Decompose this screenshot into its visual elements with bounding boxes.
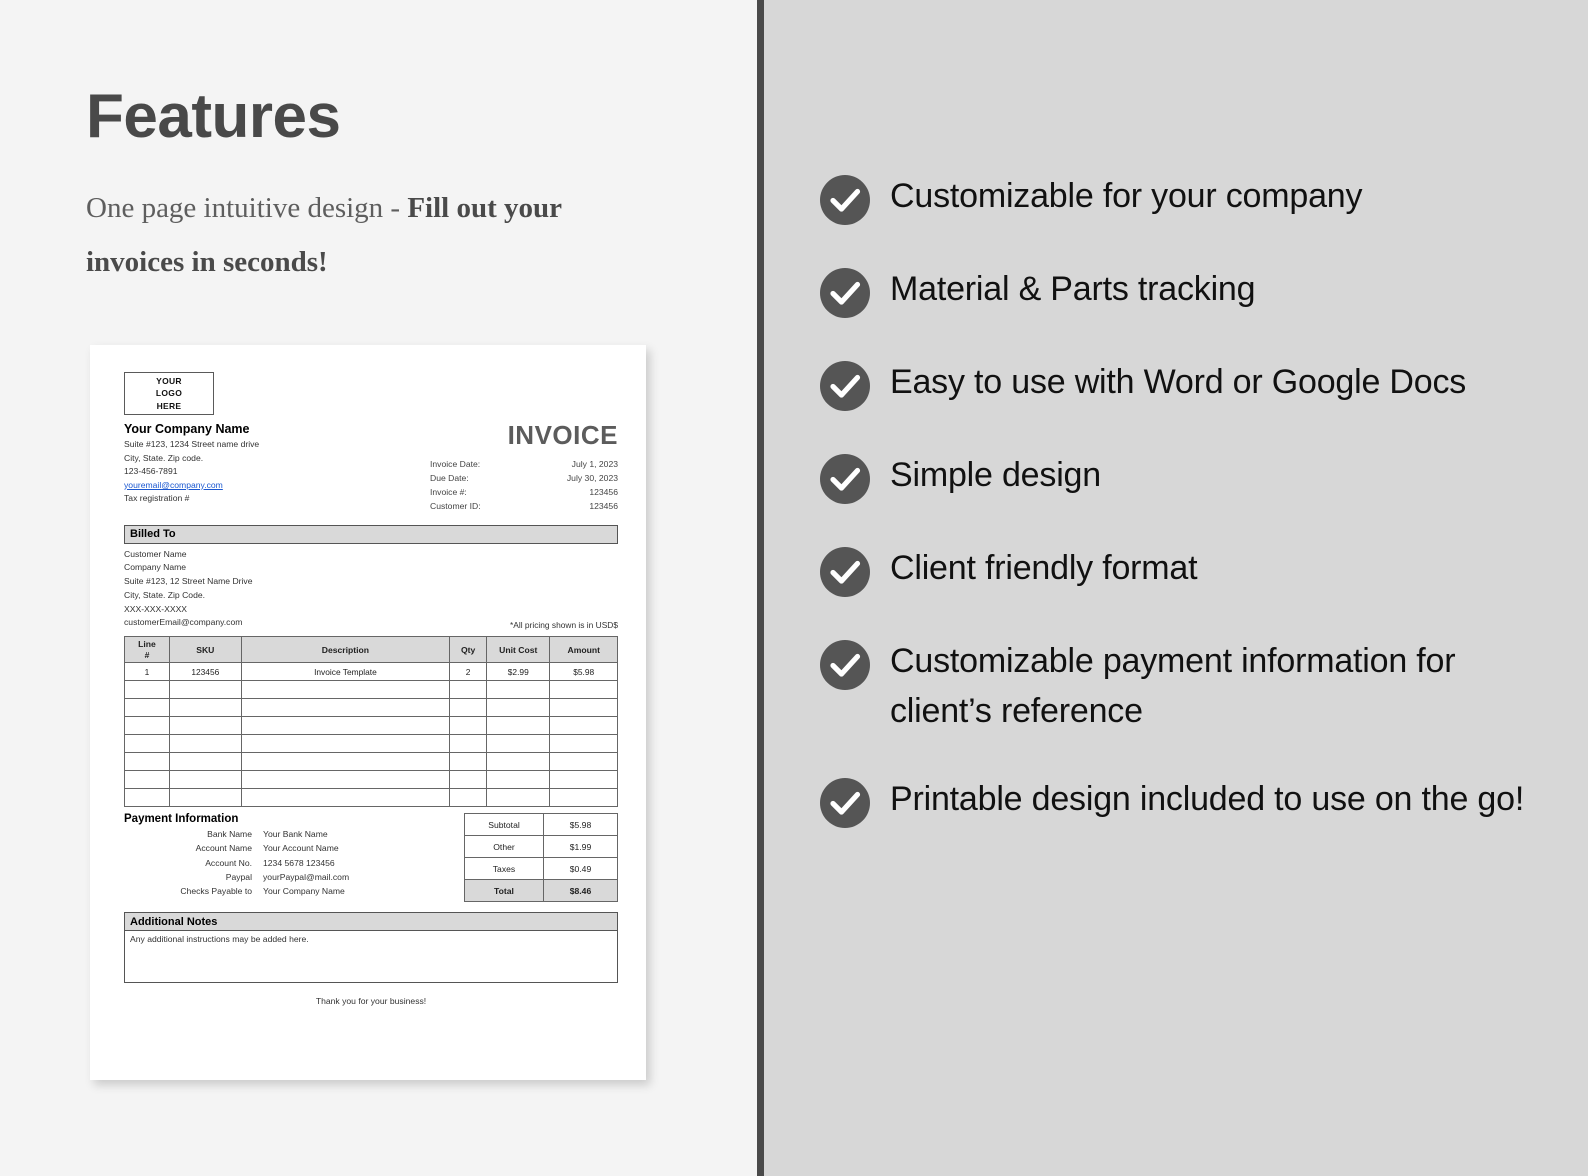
company-address-line-1: Suite #123, 1234 Street name drive (124, 438, 424, 452)
billto-line: Suite #123, 12 Street Name Drive (124, 575, 618, 589)
payment-value: yourPaypal@mail.com (263, 870, 424, 884)
billed-to-header: Billed To (124, 525, 618, 544)
payment-key: Paypal (124, 870, 263, 884)
line-items-table: Line# SKU Description Qty Unit Cost Amou… (124, 636, 618, 807)
check-circle-icon (819, 777, 871, 829)
table-row[interactable] (125, 735, 618, 753)
feature-item-word-google-docs: Easy to use with Word or Google Docs (819, 358, 1548, 412)
invoice-content: YOUR LOGO HERE Your Company Name Suite #… (124, 372, 618, 1006)
table-row[interactable]: 1 123456 Invoice Template 2 $2.99 $5.98 (125, 663, 618, 681)
totals-value: $0.49 (544, 858, 618, 880)
cell-description (241, 753, 450, 771)
feature-item-printable-design: Printable design included to use on the … (819, 775, 1548, 829)
payment-value: 1234 5678 123456 (263, 856, 424, 870)
col-hash-sign: # (145, 650, 150, 660)
feature-item-simple-design: Simple design (819, 451, 1548, 505)
totals-row-taxes: Taxes $0.49 (465, 858, 618, 880)
check-circle-icon (819, 360, 871, 412)
logo-placeholder: YOUR LOGO HERE (124, 372, 214, 415)
payment-row-checks-payable: Checks Payable to Your Company Name (124, 884, 424, 898)
invoice-document-preview[interactable]: YOUR LOGO HERE Your Company Name Suite #… (90, 345, 646, 1080)
billed-to-block: Customer Name Company Name Suite #123, 1… (124, 548, 618, 631)
col-header-sku: SKU (170, 637, 242, 663)
company-info-block: Your Company Name Suite #123, 1234 Stree… (124, 422, 424, 514)
cell-amount (550, 699, 618, 717)
left-panel: Features One page intuitive design - Fil… (0, 0, 757, 1176)
totals-label: Total (465, 880, 544, 902)
cell-line (125, 717, 170, 735)
cell-description (241, 789, 450, 807)
additional-notes-body[interactable]: Any additional instructions may be added… (124, 931, 618, 983)
cell-amount (550, 753, 618, 771)
slide-root: Features One page intuitive design - Fil… (0, 0, 1588, 1176)
payment-key: Checks Payable to (124, 884, 263, 898)
col-header-amount: Amount (550, 637, 618, 663)
cell-unit-cost (487, 789, 550, 807)
invoice-heading: INVOICE (430, 422, 618, 448)
feature-item-client-friendly-format: Client friendly format (819, 544, 1548, 598)
cell-description (241, 681, 450, 699)
cell-unit-cost (487, 717, 550, 735)
billto-line: XXX-XXX-XXXX (124, 603, 618, 617)
totals-value: $5.98 (544, 814, 618, 836)
table-row[interactable] (125, 681, 618, 699)
cell-qty (450, 717, 487, 735)
pricing-currency-note: *All pricing shown is in USD$ (510, 620, 618, 630)
payment-value: Your Company Name (263, 884, 424, 898)
payment-value: Your Account Name (263, 841, 424, 855)
cell-unit-cost (487, 681, 550, 699)
meta-value: 123456 (589, 486, 618, 500)
col-header-unit-cost: Unit Cost (487, 637, 550, 663)
table-row[interactable] (125, 789, 618, 807)
cell-description (241, 699, 450, 717)
meta-row-due-date: Due Date: July 30, 2023 (430, 472, 618, 486)
company-address-line-2: City, State. Zip code. (124, 452, 424, 466)
totals-value: $1.99 (544, 836, 618, 858)
meta-value: 123456 (589, 500, 618, 514)
cell-amount (550, 735, 618, 753)
cell-description (241, 717, 450, 735)
cell-amount: $5.98 (550, 663, 618, 681)
cell-sku (170, 699, 242, 717)
page-subtitle: One page intuitive design - Fill out you… (86, 182, 666, 289)
panel-divider (757, 0, 764, 1176)
cell-description (241, 735, 450, 753)
meta-value: July 30, 2023 (567, 472, 618, 486)
col-header-description: Description (241, 637, 450, 663)
cell-amount (550, 681, 618, 699)
table-row[interactable] (125, 753, 618, 771)
cell-sku (170, 717, 242, 735)
totals-label: Other (465, 836, 544, 858)
cell-amount (550, 789, 618, 807)
meta-row-invoice-date: Invoice Date: July 1, 2023 (430, 458, 618, 472)
billto-line: City, State. Zip Code. (124, 589, 618, 603)
table-header-row: Line# SKU Description Qty Unit Cost Amou… (125, 637, 618, 663)
col-line-word: Line (138, 639, 156, 649)
totals-table: Subtotal $5.98 Other $1.99 Taxes $0.49 (464, 813, 618, 902)
meta-key: Due Date: (430, 472, 469, 486)
table-row[interactable] (125, 717, 618, 735)
payment-key: Account No. (124, 856, 263, 870)
check-circle-icon (819, 267, 871, 319)
thank-you-message: Thank you for your business! (124, 996, 618, 1006)
cell-line (125, 753, 170, 771)
meta-key: Invoice Date: (430, 458, 480, 472)
cell-sku (170, 681, 242, 699)
payment-and-totals-area: Payment Information Bank Name Your Bank … (124, 813, 618, 902)
billto-line: Customer Name (124, 548, 618, 562)
cell-line (125, 699, 170, 717)
feature-label: Easy to use with Word or Google Docs (890, 358, 1466, 408)
page-title: Features (86, 84, 340, 149)
cell-unit-cost (487, 771, 550, 789)
right-panel: Customizable for your company Material &… (764, 0, 1588, 1176)
feature-label: Client friendly format (890, 544, 1197, 594)
cell-unit-cost (487, 753, 550, 771)
payment-key: Account Name (124, 841, 263, 855)
cell-sku (170, 735, 242, 753)
company-email-link[interactable]: youremail@company.com (124, 479, 424, 493)
subtitle-normal-text: One page intuitive design - (86, 192, 407, 224)
table-row[interactable] (125, 771, 618, 789)
meta-row-invoice-number: Invoice #: 123456 (430, 486, 618, 500)
cell-qty (450, 753, 487, 771)
line-items-body: 1 123456 Invoice Template 2 $2.99 $5.98 (125, 663, 618, 807)
payment-information-title: Payment Information (124, 813, 424, 825)
cell-line (125, 735, 170, 753)
feature-label: Customizable payment information for cli… (890, 637, 1548, 736)
meta-key: Customer ID: (430, 500, 481, 514)
totals-label: Subtotal (465, 814, 544, 836)
cell-line (125, 771, 170, 789)
cell-description: Invoice Template (241, 663, 450, 681)
check-circle-icon (819, 546, 871, 598)
meta-key: Invoice #: (430, 486, 467, 500)
feature-label: Customizable for your company (890, 172, 1362, 222)
payment-row-account-name: Account Name Your Account Name (124, 841, 424, 855)
col-header-qty: Qty (450, 637, 487, 663)
totals-row-total: Total $8.46 (465, 880, 618, 902)
company-phone: 123-456-7891 (124, 465, 424, 479)
payment-row-account-number: Account No. 1234 5678 123456 (124, 856, 424, 870)
meta-value: July 1, 2023 (572, 458, 618, 472)
cell-sku (170, 771, 242, 789)
feature-label: Printable design included to use on the … (890, 775, 1524, 825)
cell-unit-cost (487, 735, 550, 753)
meta-row-customer-id: Customer ID: 123456 (430, 500, 618, 514)
payment-information-block: Payment Information Bank Name Your Bank … (124, 813, 424, 898)
cell-sku: 123456 (170, 663, 242, 681)
invoice-meta-block: INVOICE Invoice Date: July 1, 2023 Due D… (430, 422, 618, 514)
totals-row-other: Other $1.99 (465, 836, 618, 858)
tax-registration-line: Tax registration # (124, 492, 424, 506)
totals-label: Taxes (465, 858, 544, 880)
check-circle-icon (819, 453, 871, 505)
additional-notes-header: Additional Notes (124, 912, 618, 931)
billto-line: Company Name (124, 561, 618, 575)
company-name: Your Company Name (124, 422, 424, 436)
cell-amount (550, 717, 618, 735)
feature-item-customizable-payment-info: Customizable payment information for cli… (819, 637, 1548, 736)
cell-qty (450, 681, 487, 699)
cell-qty (450, 789, 487, 807)
cell-sku (170, 789, 242, 807)
payment-key: Bank Name (124, 827, 263, 841)
line-items-header: Line# SKU Description Qty Unit Cost Amou… (125, 637, 618, 663)
logo-line-3: HERE (157, 400, 182, 412)
totals-row-subtotal: Subtotal $5.98 (465, 814, 618, 836)
cell-line (125, 681, 170, 699)
col-header-line-number: Line# (125, 637, 170, 663)
logo-line-1: YOUR (156, 375, 182, 387)
cell-qty (450, 699, 487, 717)
cell-sku (170, 753, 242, 771)
totals-value: $8.46 (544, 880, 618, 902)
logo-line-2: LOGO (156, 387, 182, 399)
cell-qty: 2 (450, 663, 487, 681)
check-circle-icon (819, 639, 871, 691)
feature-list: Customizable for your company Material &… (819, 172, 1548, 868)
payment-row-paypal: Paypal yourPaypal@mail.com (124, 870, 424, 884)
invoice-header-row: Your Company Name Suite #123, 1234 Stree… (124, 422, 618, 514)
feature-label: Material & Parts tracking (890, 265, 1255, 315)
cell-qty (450, 735, 487, 753)
feature-item-material-parts-tracking: Material & Parts tracking (819, 265, 1548, 319)
payment-value: Your Bank Name (263, 827, 424, 841)
feature-item-customizable-company: Customizable for your company (819, 172, 1548, 226)
cell-unit-cost (487, 699, 550, 717)
cell-line: 1 (125, 663, 170, 681)
cell-unit-cost: $2.99 (487, 663, 550, 681)
cell-amount (550, 771, 618, 789)
cell-description (241, 771, 450, 789)
feature-label: Simple design (890, 451, 1101, 501)
check-circle-icon (819, 174, 871, 226)
table-row[interactable] (125, 699, 618, 717)
cell-line (125, 789, 170, 807)
cell-qty (450, 771, 487, 789)
payment-row-bank-name: Bank Name Your Bank Name (124, 827, 424, 841)
